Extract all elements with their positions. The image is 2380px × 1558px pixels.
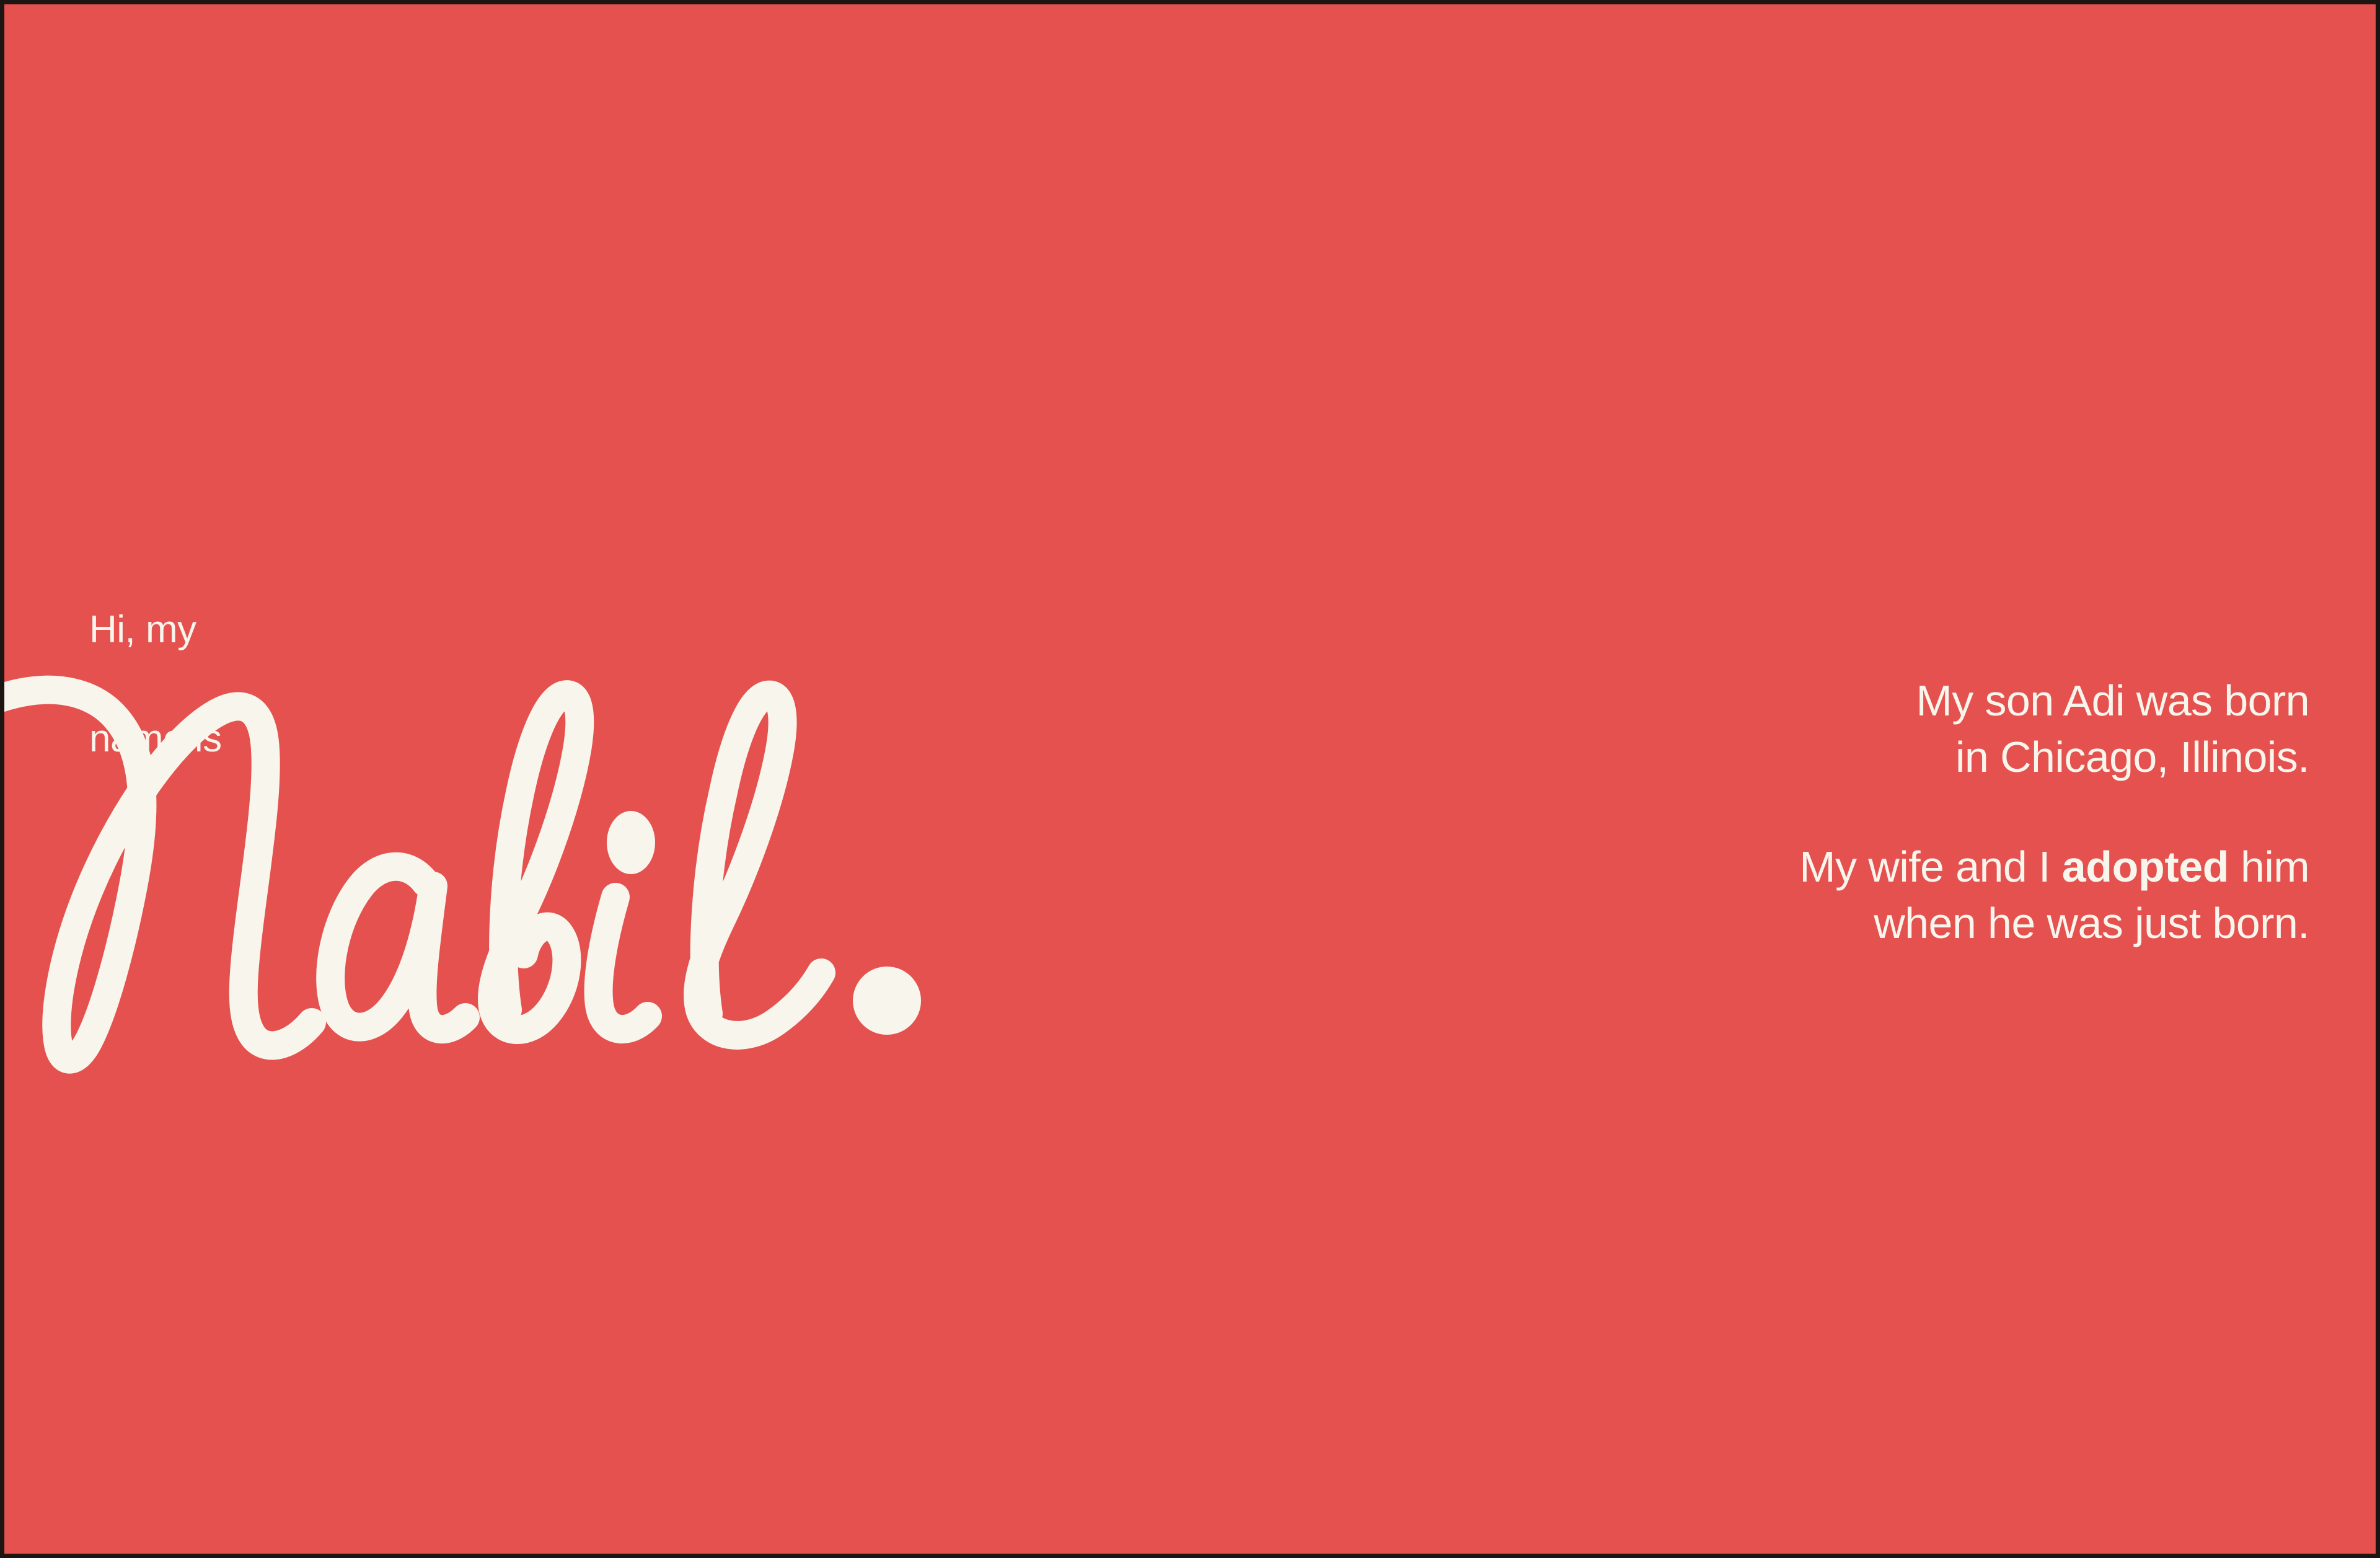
- story-p2-line-1: My wife and I adopted him: [1380, 839, 2309, 895]
- story-p2-line-1-after: him: [2229, 843, 2309, 891]
- story-p2-line-2: when he was just born.: [1380, 895, 2309, 952]
- story-paragraph-1: My son Adi was born in Chicago, Illinois…: [1380, 673, 2309, 786]
- story-p1-line-1: My son Adi was born: [1380, 673, 2309, 729]
- letter-i-path: [599, 897, 648, 1029]
- wordmark-period: [853, 967, 921, 1035]
- story-p1-line-2: in Chicago, Illinois.: [1380, 729, 2309, 786]
- story-paragraph-2: My wife and I adopted him when he was ju…: [1380, 839, 2309, 952]
- story-emphasis-adopted: adopted: [2062, 843, 2229, 891]
- story-p2-line-1-before: My wife and I: [1799, 843, 2061, 891]
- intro-text: Hi, my name is: [89, 548, 222, 821]
- poster-canvas: Hi, my name is My son Adi was born in Ch…: [0, 0, 2380, 1558]
- story-text-block: My son Adi was born in Chicago, Illinois…: [1380, 673, 2309, 952]
- letter-b-path: [492, 694, 580, 1030]
- letter-l-path: [698, 695, 821, 1035]
- intro-line-2: name is: [89, 712, 222, 766]
- letter-a-path: [330, 867, 465, 1029]
- intro-line-1: Hi, my: [89, 603, 222, 657]
- letter-i-dot: [607, 811, 655, 874]
